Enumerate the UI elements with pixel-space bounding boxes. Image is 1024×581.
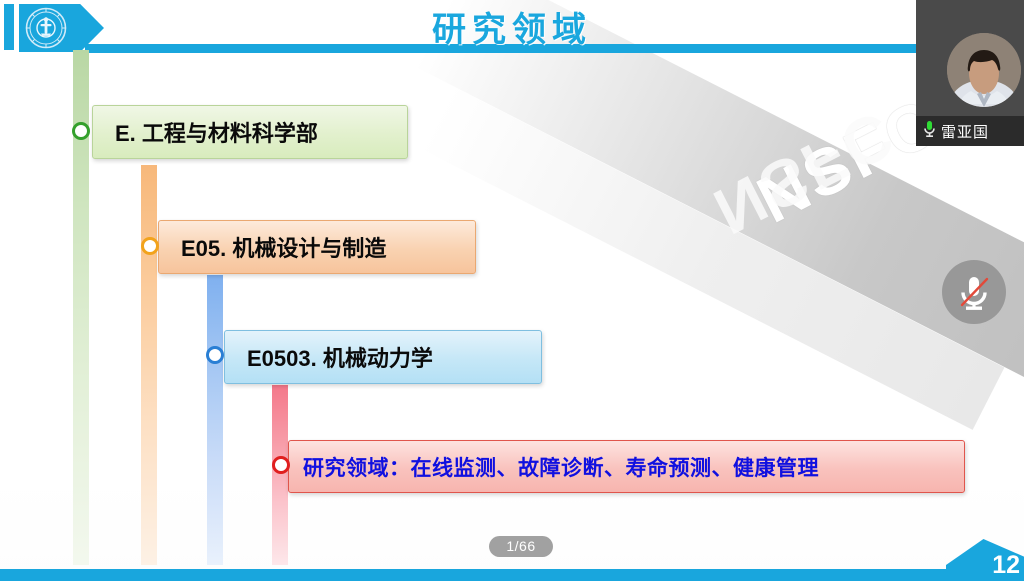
participant-name: 雷亚国 (941, 121, 989, 142)
slide-title: 研究领域 (0, 2, 1024, 51)
microphone-on-icon (923, 120, 936, 143)
connector-bar-level-2 (141, 165, 157, 565)
node-box-department: E. 工程与材料科学部 (92, 105, 408, 159)
microphone-muted-icon (942, 260, 1006, 324)
node-marker-discipline (141, 237, 159, 255)
avatar (947, 33, 1021, 107)
node-label-research-areas: 研究领域：在线监测、故障诊断、寿命预测、健康管理 (303, 452, 819, 482)
connector-bar-level-4 (272, 385, 288, 565)
page-indicator[interactable]: 1/66 (489, 536, 553, 557)
presentation-viewer: NSFC NSFC 研究领域 E. 工程与材料科学部 E05. 机械设计 (0, 0, 1024, 581)
footer-rule (0, 569, 1024, 581)
node-label-subdiscipline: E0503. 机械动力学 (247, 341, 433, 373)
connector-bar-level-3 (207, 275, 223, 565)
node-box-subdiscipline: E0503. 机械动力学 (224, 330, 542, 384)
node-box-research-areas: 研究领域：在线监测、故障诊断、寿命预测、健康管理 (288, 440, 965, 493)
node-marker-research-areas (272, 456, 290, 474)
node-label-discipline: E05. 机械设计与制造 (181, 231, 386, 263)
mute-toggle-button[interactable] (942, 260, 1006, 324)
node-marker-subdiscipline (206, 346, 224, 364)
slide-number: 12 (992, 551, 1020, 580)
participant-name-plate: 雷亚国 (916, 116, 1024, 146)
node-box-discipline: E05. 机械设计与制造 (158, 220, 476, 274)
node-label-department: E. 工程与材料科学部 (115, 116, 318, 148)
node-marker-department (72, 122, 90, 140)
participant-video-panel[interactable]: 雷亚国 (916, 0, 1024, 146)
